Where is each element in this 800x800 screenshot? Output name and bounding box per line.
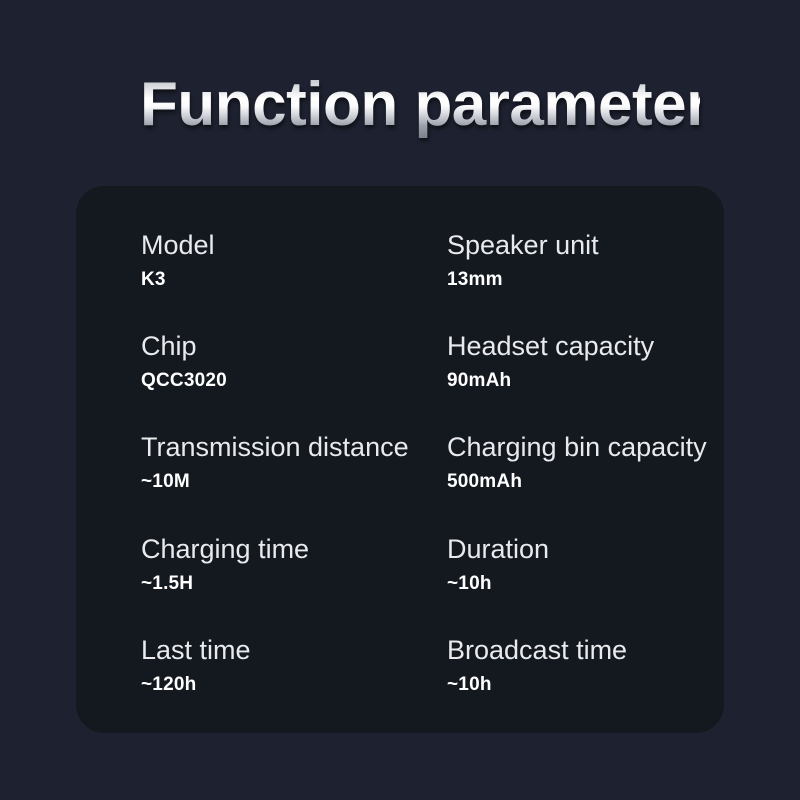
spec-label: Chip [141, 329, 197, 363]
spec-row: Duration ~10h [447, 532, 747, 633]
spec-value: QCC3020 [141, 369, 227, 393]
spec-row: Transmission distance ~10M [141, 430, 441, 531]
spec-label: Headset capacity [447, 329, 654, 363]
page-title-text: Function parameters [140, 72, 700, 138]
spec-value: ~10M [141, 470, 190, 494]
spec-label: Last time [141, 633, 251, 667]
spec-row: Headset capacity 90mAh [447, 329, 747, 430]
spec-label: Model [141, 228, 215, 262]
page-title: Function parameters [140, 72, 700, 142]
spec-value: ~10h [447, 572, 492, 596]
spec-value: 90mAh [447, 369, 511, 393]
spec-row: Last time ~120h [141, 633, 441, 734]
spec-value: ~10h [447, 673, 492, 697]
spec-value: 500mAh [447, 470, 522, 494]
spec-label: Duration [447, 532, 549, 566]
spec-label: Broadcast time [447, 633, 627, 667]
spec-row: Broadcast time ~10h [447, 633, 747, 734]
spec-label: Transmission distance [141, 430, 409, 464]
spec-value: 13mm [447, 268, 503, 292]
spec-label: Charging time [141, 532, 309, 566]
spec-row: Chip QCC3020 [141, 329, 441, 430]
spec-row: Speaker unit 13mm [447, 228, 747, 329]
spec-row: Model K3 [141, 228, 441, 329]
spec-value: ~1.5H [141, 572, 193, 596]
spec-row: Charging bin capacity 500mAh [447, 430, 747, 531]
spec-label: Speaker unit [447, 228, 599, 262]
spec-grid: Model K3 Chip QCC3020 Transmission dista… [141, 228, 741, 708]
spec-row: Charging time ~1.5H [141, 532, 441, 633]
spec-label: Charging bin capacity [447, 430, 707, 464]
spec-value: ~120h [141, 673, 196, 697]
spec-value: K3 [141, 268, 166, 292]
page-root: Function parameters Model K3 Chip QCC302… [0, 0, 800, 800]
